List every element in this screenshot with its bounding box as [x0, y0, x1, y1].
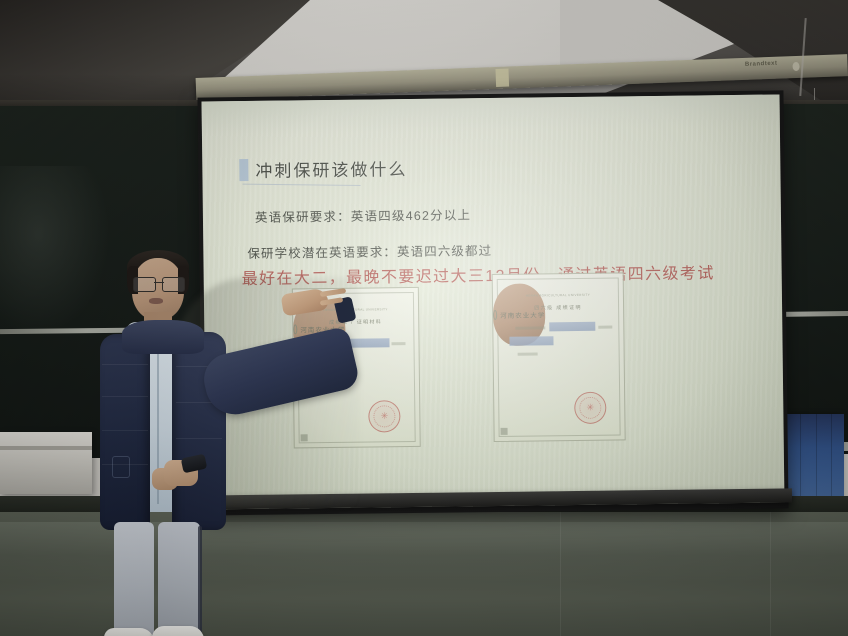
- mouth: [149, 298, 163, 304]
- trouser-side-stripe: [198, 526, 202, 636]
- trouser-leg-left: [114, 522, 154, 636]
- jacket-hood-collar: [122, 320, 204, 354]
- beam-brand-label: Brandtext: [745, 61, 778, 68]
- blue-curtain: [786, 414, 844, 502]
- classroom-photo-scene: Brandtext 冲刺保研该做什么: [0, 0, 848, 636]
- podium-ledge: [0, 432, 92, 494]
- jacket-left-panel: [100, 334, 150, 530]
- trouser-leg-right: [158, 522, 200, 636]
- index-finger: [320, 288, 346, 297]
- shoe-right: [152, 626, 204, 636]
- beam-bracket: [495, 69, 509, 87]
- podium-edge: [0, 446, 92, 450]
- jacket-pocket: [112, 456, 130, 478]
- beam-screw: [792, 62, 799, 71]
- shoe-left: [104, 628, 154, 636]
- presenter: [86, 250, 366, 636]
- glasses-icon: [132, 277, 186, 290]
